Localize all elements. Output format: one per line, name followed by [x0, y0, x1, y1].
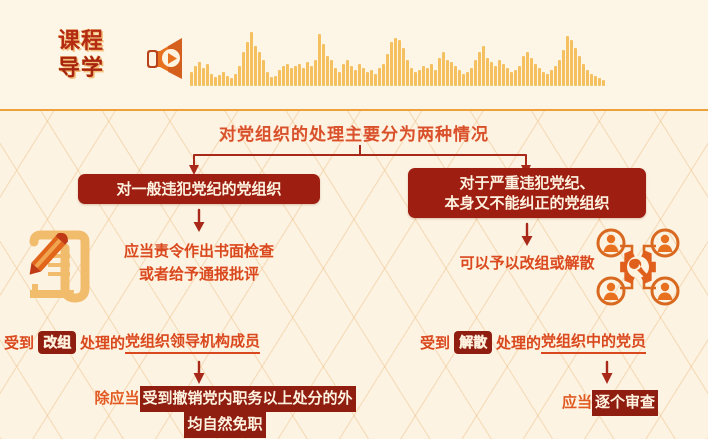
waveform-bar	[190, 72, 193, 86]
waveform-bar	[298, 64, 301, 86]
course-guide-logo: 课程 导学	[58, 28, 130, 86]
waveform-bar	[530, 58, 533, 86]
waveform-bar	[270, 77, 273, 86]
waveform-bar	[410, 68, 413, 86]
left-consequence-tag: 改组	[38, 331, 76, 354]
waveform-bar	[278, 70, 281, 86]
waveform-bar	[502, 64, 505, 86]
waveform-bar	[466, 72, 469, 86]
waveform-bar	[446, 60, 449, 86]
right-detail-highlight: 逐个审查	[592, 390, 658, 416]
waveform-bar	[266, 72, 269, 86]
left-detail-line-1: 除应当受到撤销党内职务以上处分的外	[60, 386, 390, 412]
left-branch-result: 应当责令作出书面检查 或者给予通报批评	[78, 240, 320, 286]
waveform-bar	[566, 36, 569, 86]
left-detail-highlight-2: 均自然免职	[184, 412, 265, 438]
waveform-bar	[498, 60, 501, 86]
right-consequence-row: 受到 解散 处理的 党组织中的党员	[420, 330, 646, 354]
waveform-bar	[210, 74, 213, 86]
audio-waveform	[190, 24, 690, 86]
infographic-page: 课程 导学 对党组织的处理主要分为两种情况 对一般违犯党纪的党组织 应当责令作出…	[0, 0, 708, 439]
header-divider	[0, 109, 708, 111]
waveform-bar	[306, 62, 309, 86]
waveform-bar	[274, 76, 277, 86]
page-title: 对党组织的处理主要分为两种情况	[0, 120, 708, 145]
waveform-bar	[334, 68, 337, 86]
waveform-bar	[314, 60, 317, 86]
waveform-bar	[370, 70, 373, 86]
waveform-bar	[226, 76, 229, 86]
waveform-bar	[378, 68, 381, 86]
waveform-bar	[538, 68, 541, 86]
waveform-bar	[470, 68, 473, 86]
waveform-bar	[598, 78, 601, 86]
waveform-bar	[430, 64, 433, 86]
right-detail-prefix: 应当	[562, 393, 592, 411]
waveform-bar	[374, 74, 377, 86]
waveform-bar	[338, 72, 341, 86]
waveform-bar	[294, 66, 297, 86]
header-bar: 课程 导学	[0, 0, 708, 111]
left-detail-highlight-1: 受到撤销党内职务以上处分的外	[140, 386, 356, 412]
waveform-bar	[198, 62, 201, 86]
left-consequence-middle: 处理的	[80, 332, 125, 353]
waveform-bar	[282, 66, 285, 86]
waveform-bar	[390, 42, 393, 86]
people-gear-icon	[596, 226, 680, 308]
waveform-bar	[602, 80, 605, 86]
left-detail-arrow-icon	[190, 360, 208, 386]
waveform-bar	[506, 68, 509, 86]
right-consequence-tag: 解散	[454, 331, 492, 354]
right-consequence-subject: 党组织中的党员	[541, 330, 646, 354]
waveform-bar	[486, 58, 489, 86]
waveform-bar	[358, 64, 361, 86]
left-branch-box: 对一般违犯党纪的党组织	[78, 174, 320, 204]
waveform-bar	[218, 75, 221, 86]
waveform-bar	[414, 72, 417, 86]
waveform-bar	[322, 44, 325, 86]
waveform-bar	[402, 48, 405, 86]
waveform-bar	[258, 52, 261, 86]
waveform-bar	[262, 60, 265, 86]
left-consequence-prefix: 受到	[4, 332, 34, 353]
waveform-bar	[534, 64, 537, 86]
left-detail-line-2: 均自然免职	[60, 412, 390, 438]
megaphone-icon	[138, 34, 188, 82]
right-detail-text: 应当逐个审查	[520, 390, 700, 416]
waveform-bar	[242, 52, 245, 86]
waveform-bar	[394, 38, 397, 86]
waveform-bar	[462, 74, 465, 86]
waveform-bar	[546, 74, 549, 86]
left-consequence-subject: 党组织领导机构成员	[125, 330, 260, 354]
waveform-bar	[586, 70, 589, 86]
waveform-bar	[354, 70, 357, 86]
waveform-bar	[302, 68, 305, 86]
waveform-bar	[494, 66, 497, 86]
left-consequence-row: 受到 改组 处理的 党组织领导机构成员	[4, 330, 260, 354]
waveform-bar	[522, 56, 525, 86]
waveform-bar	[562, 50, 565, 86]
waveform-bar	[454, 66, 457, 86]
waveform-bar	[202, 68, 205, 86]
waveform-bar	[418, 70, 421, 86]
left-result-line-1: 应当责令作出书面检查	[78, 240, 320, 263]
right-detail-line-1: 应当逐个审查	[520, 390, 700, 416]
logo-line-2: 导学	[58, 55, 130, 82]
waveform-bar	[490, 62, 493, 86]
waveform-bar	[214, 77, 217, 86]
waveform-bar	[350, 66, 353, 86]
waveform-bar	[550, 70, 553, 86]
waveform-bar	[238, 66, 241, 86]
waveform-bar	[234, 74, 237, 86]
waveform-bar	[442, 52, 445, 86]
waveform-bar	[330, 60, 333, 86]
left-detail-prefix: 除应当	[94, 389, 139, 407]
scroll-pencil-icon	[8, 222, 92, 308]
right-box-line-1: 对于严重违犯党纪、	[444, 173, 609, 193]
waveform-bar	[342, 64, 345, 86]
waveform-bar	[570, 40, 573, 86]
waveform-bar	[590, 74, 593, 86]
right-box-line-2: 本身又不能纠正的党组织	[444, 193, 609, 213]
waveform-bar	[206, 64, 209, 86]
left-detail-text: 除应当受到撤销党内职务以上处分的外 均自然免职	[60, 386, 390, 438]
waveform-bar	[398, 40, 401, 86]
right-detail-arrow-icon	[598, 360, 616, 386]
waveform-bar	[326, 56, 329, 86]
waveform-bar	[382, 64, 385, 86]
waveform-bar	[422, 66, 425, 86]
waveform-bar	[478, 52, 481, 86]
waveform-bar	[482, 46, 485, 86]
right-consequence-prefix: 受到	[420, 332, 450, 353]
right-consequence-middle: 处理的	[496, 332, 541, 353]
waveform-bar	[474, 60, 477, 86]
waveform-bar	[450, 62, 453, 86]
waveform-bar	[438, 58, 441, 86]
waveform-bar	[542, 72, 545, 86]
waveform-bar	[458, 70, 461, 86]
waveform-bar	[230, 78, 233, 86]
right-branch-box: 对于严重违犯党纪、 本身又不能纠正的党组织	[408, 168, 646, 218]
waveform-bar	[510, 72, 513, 86]
waveform-bar	[362, 68, 365, 86]
waveform-bar	[254, 46, 257, 86]
waveform-bar	[582, 64, 585, 86]
waveform-bar	[434, 70, 437, 86]
waveform-bar	[518, 66, 521, 86]
waveform-bar	[406, 60, 409, 86]
waveform-bar	[386, 54, 389, 86]
waveform-bar	[554, 66, 557, 86]
waveform-bar	[526, 52, 529, 86]
left-branch-arrow-icon	[190, 208, 208, 234]
waveform-bar	[286, 64, 289, 86]
waveform-bar	[366, 72, 369, 86]
waveform-bar	[578, 56, 581, 86]
waveform-bar	[246, 42, 249, 86]
waveform-bar	[222, 72, 225, 86]
waveform-bar	[318, 34, 321, 86]
waveform-bar	[346, 60, 349, 86]
waveform-bar	[514, 70, 517, 86]
right-branch-arrow-icon	[518, 222, 536, 248]
waveform-bar	[594, 76, 597, 86]
waveform-bar	[194, 66, 197, 86]
logo-line-1: 课程	[58, 28, 130, 55]
waveform-bar	[290, 68, 293, 86]
waveform-bar	[574, 48, 577, 86]
waveform-bar	[250, 32, 253, 86]
waveform-bar	[310, 66, 313, 86]
waveform-bar	[558, 60, 561, 86]
left-result-line-2: 或者给予通报批评	[78, 263, 320, 286]
waveform-bar	[426, 68, 429, 86]
